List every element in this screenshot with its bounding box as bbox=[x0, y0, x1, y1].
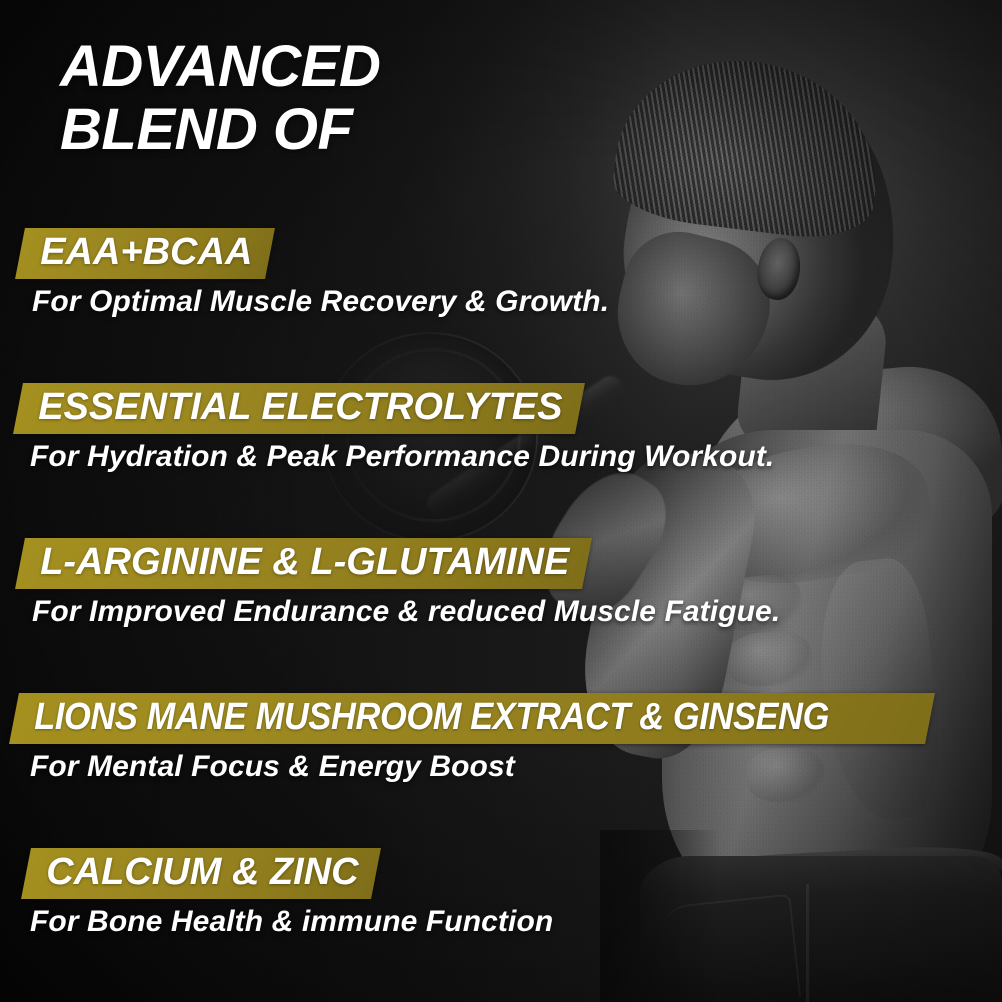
blend-item: L-ARGININE & L-GLUTAMINEFor Improved End… bbox=[0, 538, 1002, 693]
ingredient-badge: LIONS MANE MUSHROOM EXTRACT & GINSENG bbox=[9, 693, 935, 744]
blend-item: CALCIUM & ZINCFor Bone Health & immune F… bbox=[0, 848, 1002, 1002]
poster-content: ADVANCED BLEND OF EAA+BCAAFor Optimal Mu… bbox=[0, 0, 1002, 1002]
supplement-benefits-poster: ADVANCED BLEND OF EAA+BCAAFor Optimal Mu… bbox=[0, 0, 1002, 1002]
ingredient-badge: EAA+BCAA bbox=[15, 228, 275, 279]
ingredient-badge: CALCIUM & ZINC bbox=[21, 848, 381, 899]
ingredient-subtitle: For Bone Health & immune Function bbox=[30, 905, 553, 938]
ingredient-badge-label: EAA+BCAA bbox=[40, 232, 252, 273]
ingredient-badge-label: LIONS MANE MUSHROOM EXTRACT & GINSENG bbox=[34, 697, 829, 738]
ingredient-subtitle: For Optimal Muscle Recovery & Growth. bbox=[32, 285, 609, 318]
blend-ingredient-list: EAA+BCAAFor Optimal Muscle Recovery & Gr… bbox=[0, 228, 1002, 1002]
ingredient-badge-label: ESSENTIAL ELECTROLYTES bbox=[38, 387, 562, 428]
blend-item: ESSENTIAL ELECTROLYTESFor Hydration & Pe… bbox=[0, 383, 1002, 538]
blend-item: LIONS MANE MUSHROOM EXTRACT & GINSENGFor… bbox=[0, 693, 1002, 848]
ingredient-badge: L-ARGININE & L-GLUTAMINE bbox=[15, 538, 592, 589]
ingredient-subtitle: For Improved Endurance & reduced Muscle … bbox=[32, 595, 780, 628]
page-title: ADVANCED BLEND OF bbox=[60, 36, 380, 161]
ingredient-badge-label: CALCIUM & ZINC bbox=[46, 852, 358, 893]
ingredient-subtitle: For Mental Focus & Energy Boost bbox=[30, 750, 515, 783]
ingredient-subtitle: For Hydration & Peak Performance During … bbox=[30, 440, 774, 473]
blend-item: EAA+BCAAFor Optimal Muscle Recovery & Gr… bbox=[0, 228, 1002, 383]
ingredient-badge-label: L-ARGININE & L-GLUTAMINE bbox=[40, 542, 569, 583]
ingredient-badge: ESSENTIAL ELECTROLYTES bbox=[13, 383, 585, 434]
